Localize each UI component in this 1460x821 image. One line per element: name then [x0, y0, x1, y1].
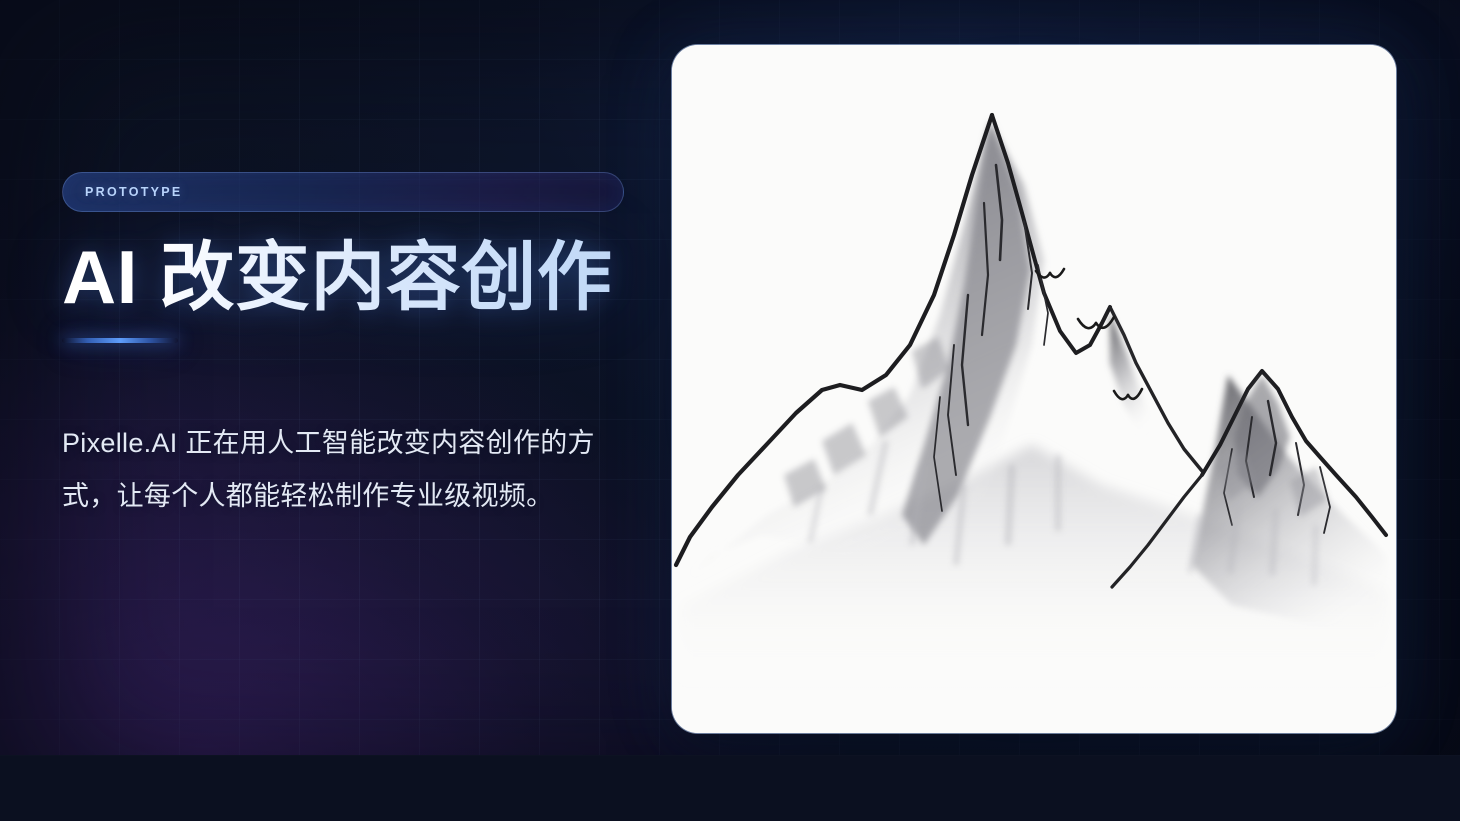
title-accent-bar: [62, 338, 178, 343]
media-card: [672, 45, 1396, 733]
text-column: PROTOTYPE AI 改变内容创作 Pixelle.AI 正在用人工智能改变…: [62, 172, 642, 523]
page-title: AI 改变内容创作: [62, 238, 642, 316]
mountain-illustration: [672, 45, 1396, 733]
body-paragraph: Pixelle.AI 正在用人工智能改变内容创作的方式，让每个人都能轻松制作专业…: [62, 417, 628, 523]
slide-canvas: PROTOTYPE AI 改变内容创作 Pixelle.AI 正在用人工智能改变…: [0, 0, 1460, 821]
prototype-badge-label: PROTOTYPE: [85, 185, 183, 199]
prototype-badge: PROTOTYPE: [62, 172, 624, 212]
bottom-letterbox-bar: [0, 755, 1460, 821]
